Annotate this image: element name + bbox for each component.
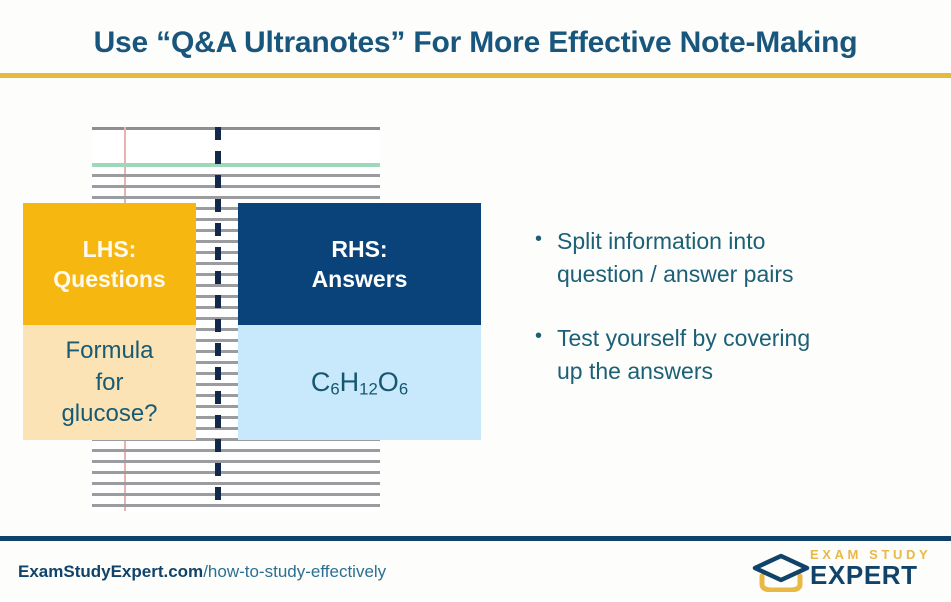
paper-rule-line [92,185,380,188]
formula-element-1: H [340,367,360,397]
formula-element-0: C [311,367,331,397]
paper-rule-line [92,174,380,177]
lhs-question-line3: glucose? [61,398,157,430]
lhs-question-line1: Formula [61,335,157,367]
footer-url: ExamStudyExpert.com/how-to-study-effecti… [18,562,386,582]
paper-rule-line [92,471,380,474]
bullet-item: •Test yourself by coveringup the answers [535,322,935,387]
bullet-line-2: question / answer pairs [557,258,794,291]
brand-logo: EXAM STUDY EXPERT [752,548,938,594]
lhs-question-cell: Formula for glucose? [23,325,196,440]
paper-rule-line [92,482,380,485]
paper-top-edge [92,127,380,130]
footer-url-domain: ExamStudyExpert.com [18,562,203,581]
logo-bottom-text: EXPERT [810,562,938,588]
graduation-cap-icon [752,550,810,592]
footer-divider-rule [0,536,951,541]
lhs-header-cell: LHS: Questions [23,203,196,325]
rhs-answer-cell: C6H12O6 [238,325,481,440]
bullet-text: Test yourself by coveringup the answers [557,322,810,387]
bullet-text: Split information intoquestion / answer … [557,225,794,290]
title-divider-rule [0,73,951,78]
slide-canvas: Use “Q&A Ultranotes” For More Effective … [0,0,951,602]
formula-subscript-1: 12 [359,379,378,398]
page-title: Use “Q&A Ultranotes” For More Effective … [0,26,951,60]
lhs-header-line2: Questions [53,264,165,294]
lhs-question-line2: for [61,367,157,399]
bullet-list: •Split information intoquestion / answer… [535,225,935,420]
formula-element-2: O [378,367,399,397]
bullet-item: •Split information intoquestion / answer… [535,225,935,290]
paper-rule-line [92,504,380,507]
paper-rule-line [92,196,380,199]
footer-url-path: /how-to-study-effectively [203,562,386,581]
chemical-formula: C6H12O6 [311,365,408,400]
bullet-line-1: Split information into [557,225,794,258]
bullet-line-2: up the answers [557,355,810,388]
bullet-marker-icon: • [535,322,557,350]
bullet-marker-icon: • [535,225,557,253]
rhs-header-line1: RHS: [312,234,408,264]
paper-rule-line [92,460,380,463]
paper-highlight-line [92,163,380,167]
formula-subscript-2: 6 [399,379,408,398]
paper-rule-line [92,493,380,496]
paper-rule-line [92,449,380,452]
rhs-header-line2: Answers [312,264,408,294]
lhs-header-line1: LHS: [53,234,165,264]
formula-subscript-0: 6 [330,379,339,398]
dashed-center-divider-icon [215,127,221,511]
logo-wordmark: EXAM STUDY EXPERT [810,548,938,588]
rhs-header-cell: RHS: Answers [238,203,481,325]
bullet-line-1: Test yourself by covering [557,322,810,355]
